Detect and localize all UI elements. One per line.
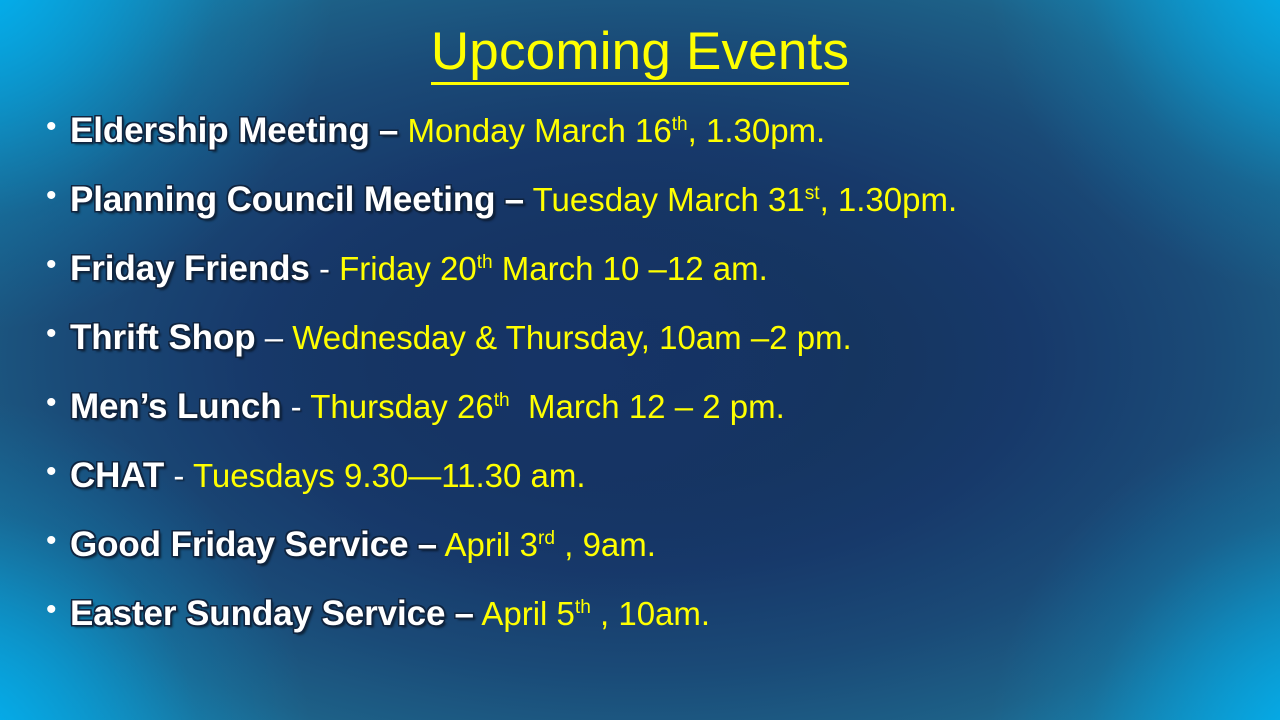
event-text: Eldership Meeting – Monday March 16th, 1… — [70, 113, 1264, 148]
bullet-point-icon: • — [34, 526, 70, 556]
event-detail-ordinal: st — [805, 183, 820, 204]
event-name: Friday Friends — [70, 249, 310, 288]
event-detail-pre: April 5 — [481, 595, 575, 632]
event-detail-pre: Monday March 16 — [408, 112, 672, 149]
event-detail-post: , 9am. — [555, 526, 656, 563]
event-text: CHAT - Tuesdays 9.30—11.30 am. — [70, 458, 1264, 493]
list-item: • Eldership Meeting – Monday March 16th,… — [34, 113, 1264, 182]
event-detail-ordinal: th — [575, 597, 591, 618]
event-detail-pre: Thursday 26 — [310, 388, 493, 425]
event-detail-ordinal: th — [672, 114, 688, 135]
list-item: • Thrift Shop – Wednesday & Thursday, 10… — [34, 320, 1264, 389]
event-name: Good Friday Service — [70, 525, 409, 564]
event-separator: – — [418, 525, 437, 564]
events-list: • Eldership Meeting – Monday March 16th,… — [34, 113, 1264, 665]
event-text: Friday Friends - Friday 20th March 10 –1… — [70, 251, 1264, 286]
event-text: Men’s Lunch - Thursday 26th March 12 – 2… — [70, 389, 1264, 424]
event-separator: - — [173, 457, 184, 494]
list-item: • Good Friday Service – April 3rd , 9am. — [34, 527, 1264, 596]
event-name: Eldership Meeting — [70, 111, 370, 150]
event-detail-pre: Tuesday March 31 — [533, 181, 805, 218]
event-detail-post: March 10 –12 am. — [493, 250, 768, 287]
event-detail-pre: Tuesdays 9.30—11.30 am. — [193, 457, 586, 494]
event-separator: – — [265, 319, 283, 356]
event-name: Planning Council Meeting — [70, 180, 495, 219]
event-detail-ordinal: rd — [538, 528, 555, 549]
bullet-point-icon: • — [34, 595, 70, 625]
event-detail-pre: Friday 20 — [339, 250, 477, 287]
event-detail-ordinal: th — [494, 390, 510, 411]
bullet-point-icon: • — [34, 112, 70, 142]
slide-canvas: Upcoming Events • Eldership Meeting – Mo… — [0, 0, 1280, 720]
bullet-point-icon: • — [34, 181, 70, 211]
event-separator: - — [291, 388, 302, 425]
event-text: Planning Council Meeting – Tuesday March… — [70, 182, 1264, 217]
event-text: Easter Sunday Service – April 5th , 10am… — [70, 596, 1264, 631]
list-item: • CHAT - Tuesdays 9.30—11.30 am. — [34, 458, 1264, 527]
event-name: CHAT — [70, 456, 164, 495]
list-item: • Friday Friends - Friday 20th March 10 … — [34, 251, 1264, 320]
event-detail-post: , 1.30pm. — [688, 112, 826, 149]
event-detail-pre: Wednesday & Thursday, 10am –2 pm. — [292, 319, 851, 356]
slide-title: Upcoming Events — [0, 24, 1280, 85]
bullet-point-icon: • — [34, 250, 70, 280]
slide-title-text: Upcoming Events — [431, 24, 849, 85]
list-item: • Easter Sunday Service – April 5th , 10… — [34, 596, 1264, 665]
event-text: Thrift Shop – Wednesday & Thursday, 10am… — [70, 320, 1264, 355]
event-name: Thrift Shop — [70, 318, 256, 357]
event-separator: – — [379, 111, 398, 150]
event-detail-pre: April 3 — [445, 526, 539, 563]
event-detail-post: , 10am. — [591, 595, 710, 632]
list-item: • Planning Council Meeting – Tuesday Mar… — [34, 182, 1264, 251]
bullet-point-icon: • — [34, 319, 70, 349]
bullet-point-icon: • — [34, 388, 70, 418]
event-detail-post: March 12 – 2 pm. — [510, 388, 785, 425]
event-separator: – — [455, 594, 474, 633]
list-item: • Men’s Lunch - Thursday 26th March 12 –… — [34, 389, 1264, 458]
event-separator: - — [319, 250, 330, 287]
event-name: Easter Sunday Service — [70, 594, 445, 633]
event-separator: – — [505, 180, 524, 219]
event-name: Men’s Lunch — [70, 387, 282, 426]
bullet-point-icon: • — [34, 457, 70, 487]
event-detail-ordinal: th — [477, 252, 493, 273]
event-text: Good Friday Service – April 3rd , 9am. — [70, 527, 1264, 562]
event-detail-post: , 1.30pm. — [820, 181, 958, 218]
